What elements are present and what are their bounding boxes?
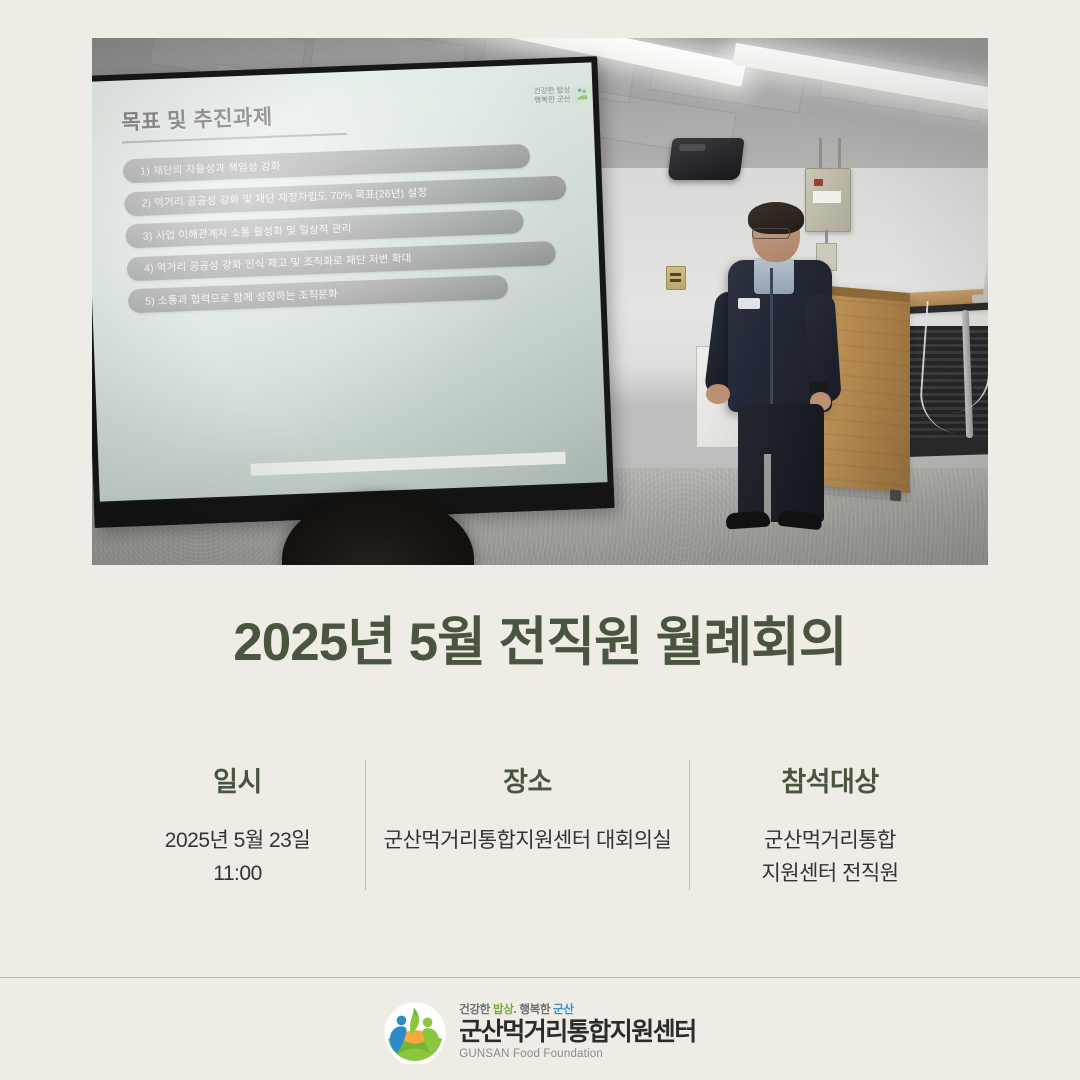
info-column-place: 장소 군산먹거리통합지원센터 대회의실 xyxy=(366,760,689,858)
info-columns: 일시 2025년 5월 23일 11:00 장소 군산먹거리통합지원센터 대회의… xyxy=(110,760,970,890)
slide-bullet: 1) 재단의 자율성과 책임성 강화 xyxy=(123,144,530,184)
info-value-attendees-line: 지원센터 전직원 xyxy=(698,858,962,891)
slide-logo-line2: 행복한 군산 xyxy=(534,95,571,105)
presentation-slide: 목표 및 추진과제 건강한 밥상 행복한 군산 1) 재단의 자 xyxy=(92,62,606,475)
slide-bullet-list: 1) 재단의 자율성과 책임성 강화 2) 먹거리 공공성 강화 및 재단 재정… xyxy=(123,143,571,314)
slide-logo-mark xyxy=(570,82,593,107)
info-value-place-line: 군산먹거리통합지원센터 대회의실 xyxy=(374,825,681,858)
logo-tagline-prefix: 건강한 xyxy=(459,1004,493,1016)
poster-card: 목표 및 추진과제 건강한 밥상 행복한 군산 1) 재단의 자 xyxy=(0,0,1080,1080)
slide-logo-line1: 건강한 밥상 xyxy=(534,85,571,95)
info-value-time-line: 11:00 xyxy=(118,858,357,891)
slide-title-rule xyxy=(122,133,347,144)
logo-tagline-green: 밥상 xyxy=(493,1004,514,1016)
slide-bullet: 2) 먹거리 공공성 강화 및 재단 재정자립도 70% 목표(26년) 설정 xyxy=(124,175,567,216)
info-value-date-line: 2025년 5월 23일 xyxy=(118,825,357,858)
slide-bullet: 4) 먹거리 공공성 강화 인식 제고 및 조직화로 재단 저변 확대 xyxy=(126,240,555,280)
organization-subtitle: GUNSAN Food Foundation xyxy=(459,1048,696,1061)
name-badge xyxy=(738,298,760,309)
slide-corner-logo: 건강한 밥상 행복한 군산 xyxy=(534,85,571,105)
eyeglasses xyxy=(752,228,790,239)
wristwatch xyxy=(809,382,829,392)
conduit xyxy=(838,138,841,170)
page-title: 2025년 5월 전직원 월례회의 xyxy=(0,600,1080,676)
wall-switch-plate xyxy=(666,266,686,290)
slide-title: 목표 및 추진과제 xyxy=(121,90,564,137)
projection-screen: 목표 및 추진과제 건강한 밥상 행복한 군산 1) 재단의 자 xyxy=(92,56,614,528)
slide-bullet: 3) 사업 이해관계자 소통 활성화 및 일상적 관리 xyxy=(125,209,523,248)
conduit xyxy=(819,138,822,170)
info-value-attendees-line: 군산먹거리통합 xyxy=(698,825,962,858)
foundation-logo-text: 건강한 밥상. 행복한 군산 군산먹거리통합지원센터 GUNSAN Food F… xyxy=(459,1004,696,1061)
logo-tagline-blue: 군산 xyxy=(553,1004,574,1016)
footer-branding: 건강한 밥상. 행복한 군산 군산먹거리통합지원센터 GUNSAN Food F… xyxy=(0,985,1080,1080)
logo-tagline-mid: . 행복한 xyxy=(514,1004,554,1016)
foundation-logo-icon xyxy=(384,1002,446,1064)
organization-name: 군산먹거리통합지원센터 xyxy=(459,1019,696,1047)
ceiling-projector xyxy=(667,138,744,180)
logo-tagline: 건강한 밥상. 행복한 군산 xyxy=(459,1004,696,1017)
slide-bullet: 5) 소통과 협력으로 함께 성장하는 조직문화 xyxy=(128,275,509,314)
info-column-attendees: 참석대상 군산먹거리통합 지원센터 전직원 xyxy=(690,760,970,890)
info-column-date: 일시 2025년 5월 23일 11:00 xyxy=(110,760,365,890)
footer-divider xyxy=(0,977,1080,978)
info-heading-attendees: 참석대상 xyxy=(698,760,962,799)
event-photo: 목표 및 추진과제 건강한 밥상 행복한 군산 1) 재단의 자 xyxy=(92,38,988,565)
info-heading-date: 일시 xyxy=(118,760,357,799)
info-heading-place: 장소 xyxy=(374,760,681,799)
presenter xyxy=(708,206,848,536)
